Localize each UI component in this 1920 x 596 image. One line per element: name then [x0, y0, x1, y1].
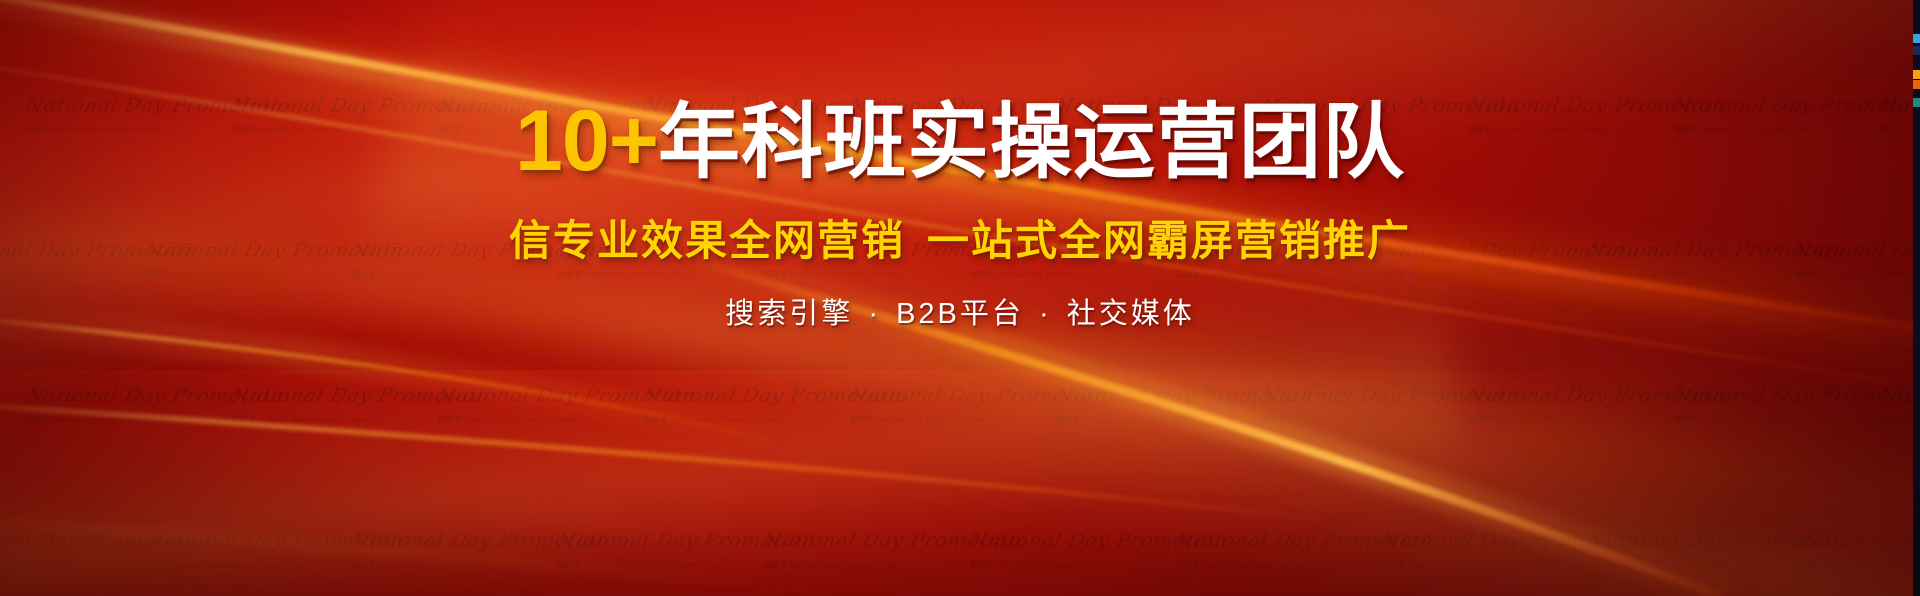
promotional-banner: National Day Promotion国庆节 National Day P… — [0, 0, 1920, 596]
banner-headline: 10+年科班实操运营团队 — [0, 96, 1920, 187]
headline-highlight-number: 10+ — [515, 93, 658, 189]
tagline-separator-1: · — [864, 298, 885, 330]
streak-bottom-accent — [0, 520, 900, 596]
subline-right-text: 一站式全网霸屏营销推广 — [927, 217, 1411, 264]
tagline-item-search-engine: 搜索引擎 — [725, 298, 853, 330]
banner-text-block: 10+年科班实操运营团队 信专业效果全网营销一站式全网霸屏营销推广 搜索引擎 ·… — [0, 96, 1920, 332]
edge-strip-mark — [1913, 34, 1920, 43]
banner-tagline: 搜索引擎 · B2B平台 · 社交媒体 — [0, 290, 1920, 332]
tagline-item-b2b-platform: B2B平台 — [896, 298, 1024, 330]
edge-strip-mark — [1913, 70, 1920, 79]
subline-left-text: 信专业效果全网营销 — [509, 217, 905, 264]
tagline-separator-2: · — [1035, 298, 1056, 330]
right-edge-strip — [1913, 0, 1920, 596]
edge-strip-mark — [1913, 46, 1920, 55]
edge-strip-mark — [1913, 80, 1920, 89]
tagline-item-social-media: 社交媒体 — [1067, 298, 1195, 330]
edge-strip-mark — [1913, 98, 1920, 107]
banner-subline: 信专业效果全网营销一站式全网霸屏营销推广 — [0, 207, 1920, 268]
headline-rest-text: 年科班实操运营团队 — [658, 97, 1405, 188]
